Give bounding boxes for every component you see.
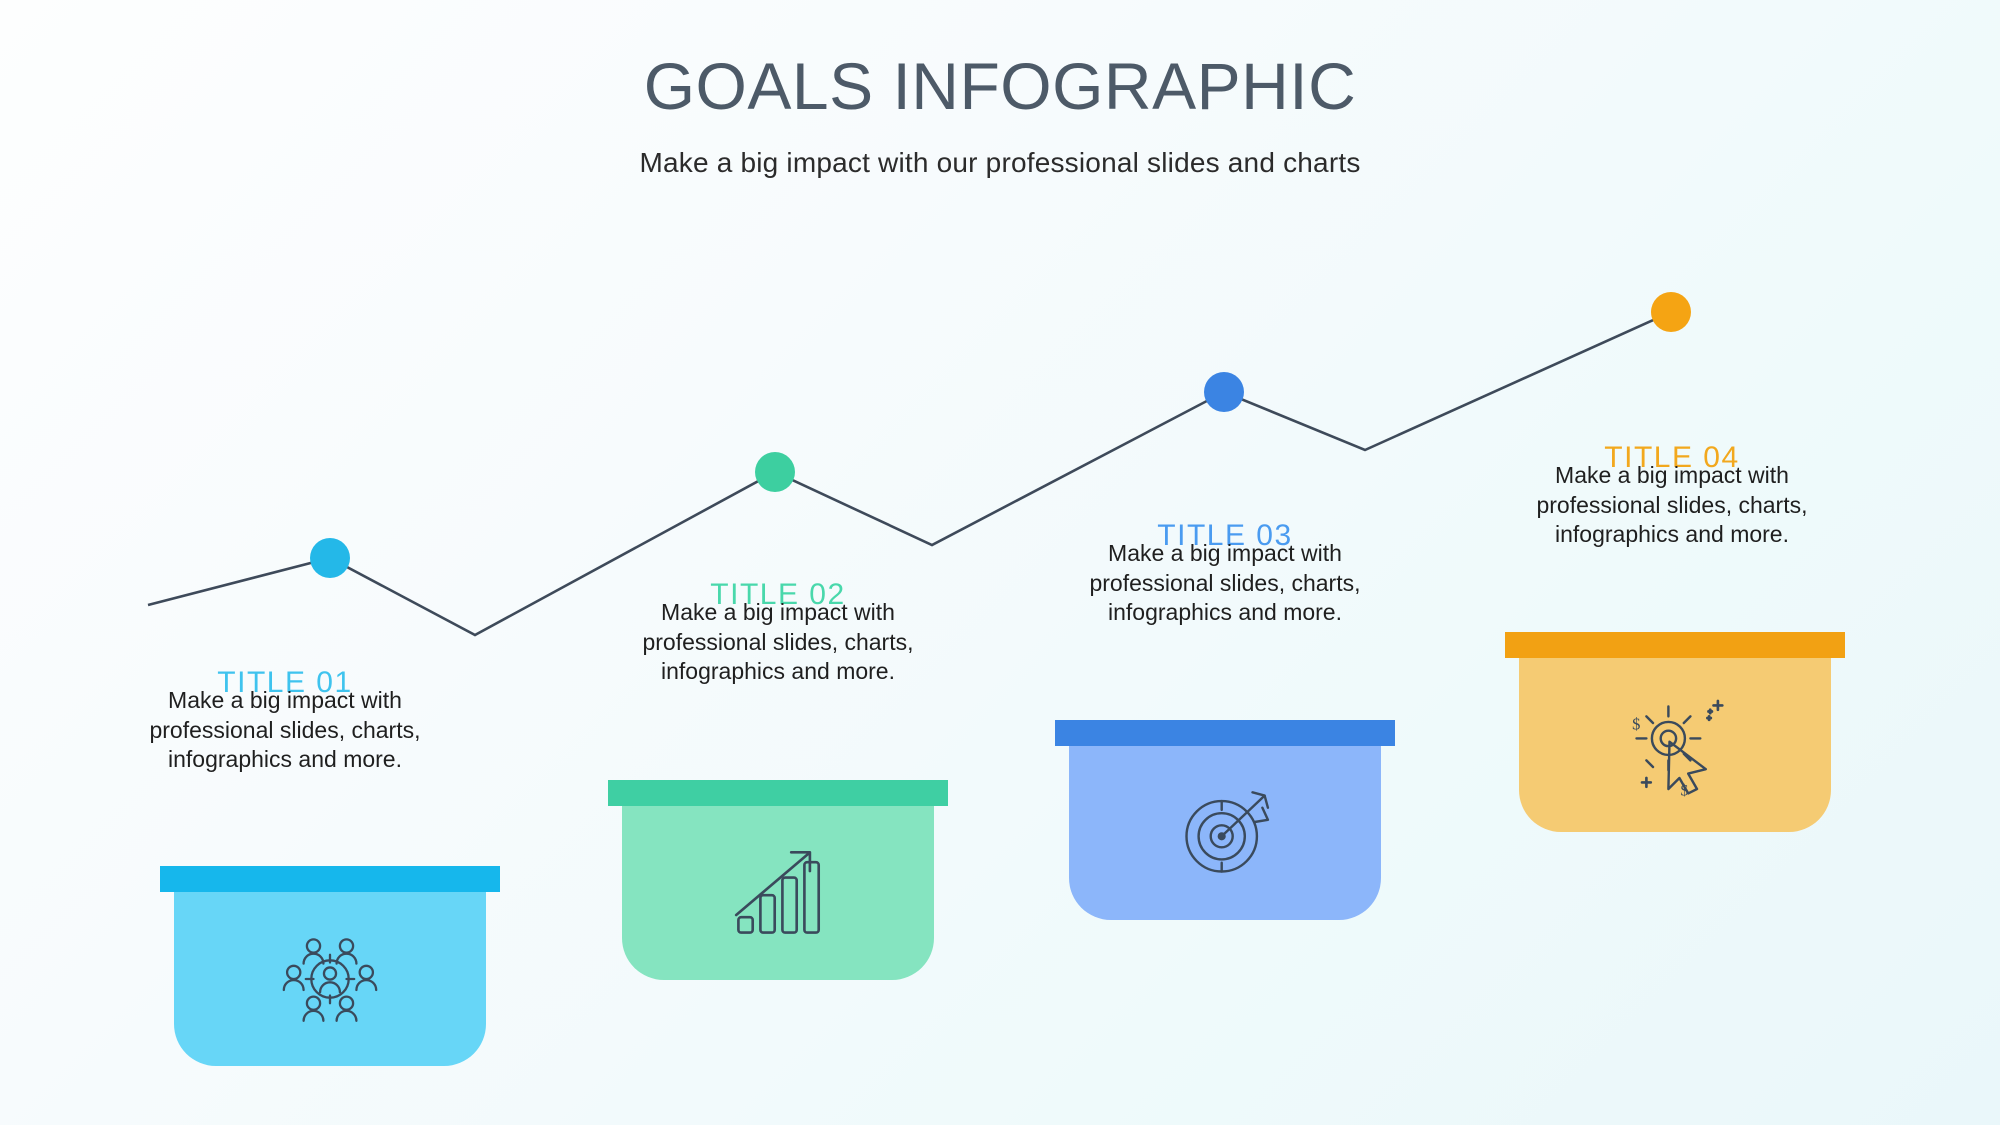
step-card-bar-2 [608, 780, 948, 806]
infographic-slide: GOALS INFOGRAPHIC Make a big impact with… [0, 0, 2000, 1125]
step-description-3: Make a big impact with professional slid… [1055, 539, 1395, 628]
pay-per-click-icon: $ $ [1620, 690, 1730, 800]
step-text-block-3: TITLE 03Make a big impact with professio… [1055, 521, 1395, 628]
step-card-1[interactable] [160, 866, 500, 1066]
milestone-dot-4[interactable] [1651, 292, 1691, 332]
step-card-body-1 [174, 892, 486, 1066]
page-subtitle: Make a big impact with our professional … [0, 147, 2000, 179]
milestone-dot-2[interactable] [755, 452, 795, 492]
step-card-bar-4 [1505, 632, 1845, 658]
target-arrow-icon [1170, 778, 1280, 888]
step-card-body-2 [622, 806, 934, 980]
step-card-2[interactable] [608, 780, 948, 980]
page-title: GOALS INFOGRAPHIC [0, 52, 2000, 121]
growth-chart-icon [723, 838, 833, 948]
step-text-block-2: TITLE 02Make a big impact with professio… [608, 580, 948, 687]
step-card-4[interactable]: $ $ [1505, 632, 1845, 832]
svg-text:$: $ [1681, 783, 1689, 800]
svg-text:$: $ [1632, 715, 1640, 734]
step-card-bar-3 [1055, 720, 1395, 746]
step-card-3[interactable] [1055, 720, 1395, 920]
target-audience-icon [275, 924, 385, 1034]
step-card-body-4: $ $ [1519, 658, 1831, 832]
milestone-dot-3[interactable] [1204, 372, 1244, 412]
step-text-block-4: TITLE 04Make a big impact with professio… [1502, 443, 1842, 550]
step-description-4: Make a big impact with professional slid… [1502, 461, 1842, 550]
milestone-dot-1[interactable] [310, 538, 350, 578]
header: GOALS INFOGRAPHIC Make a big impact with… [0, 0, 2000, 179]
step-card-body-3 [1069, 746, 1381, 920]
step-description-2: Make a big impact with professional slid… [608, 598, 948, 687]
step-card-bar-1 [160, 866, 500, 892]
step-description-1: Make a big impact with professional slid… [115, 686, 455, 775]
step-text-block-1: TITLE 01Make a big impact with professio… [115, 668, 455, 775]
